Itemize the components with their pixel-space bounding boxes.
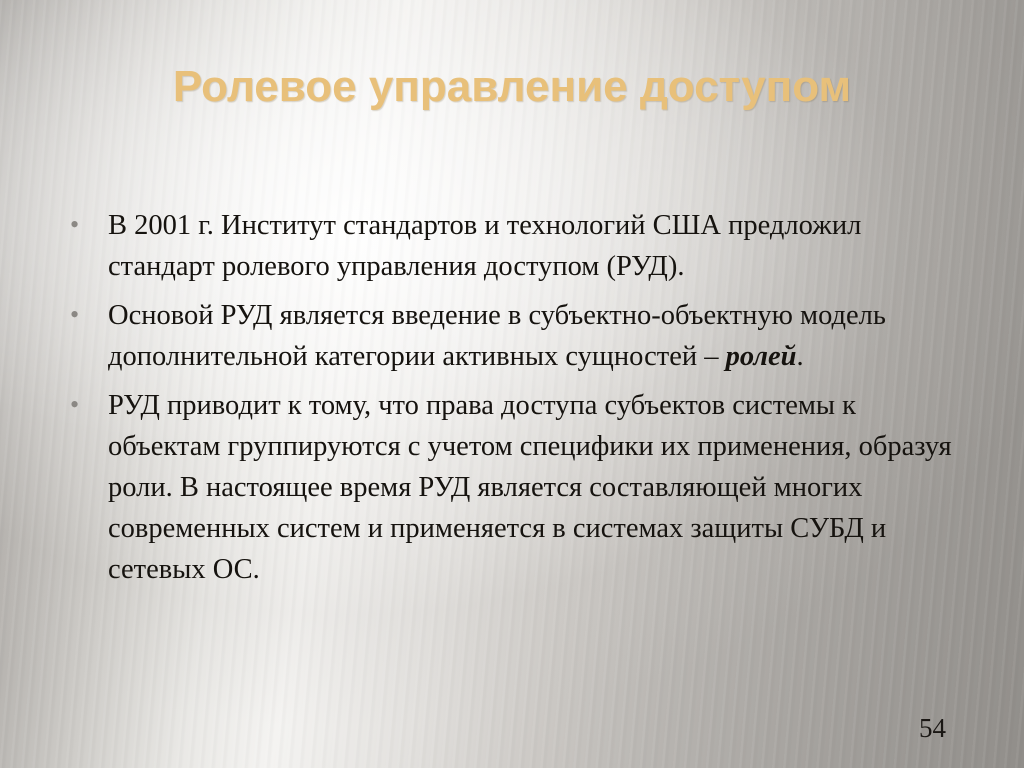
bullet-text-3: РУД приводит к тому, что права доступа с… [108,385,962,590]
list-item: • В 2001 г. Институт стандартов и технол… [62,205,962,287]
bullet-text-2-emphasis: ролей [726,341,797,372]
bullet-icon: • [62,385,108,425]
page-number: 54 [919,713,946,744]
page-title: Ролевое управление доступом [0,62,1024,111]
bullet-icon: • [62,205,108,245]
list-item: • РУД приводит к тому, что права доступа… [62,385,962,590]
bullet-text-1: В 2001 г. Институт стандартов и технолог… [108,205,962,287]
bullet-text-2-part-after: . [797,341,804,372]
slide: Ролевое управление доступом • В 2001 г. … [0,0,1024,768]
list-item: • Основой РУД является введение в субъек… [62,295,962,377]
bullet-text-2: Основой РУД является введение в субъектн… [108,295,962,377]
bullet-icon: • [62,295,108,335]
slide-content: • В 2001 г. Институт стандартов и технол… [62,205,962,598]
